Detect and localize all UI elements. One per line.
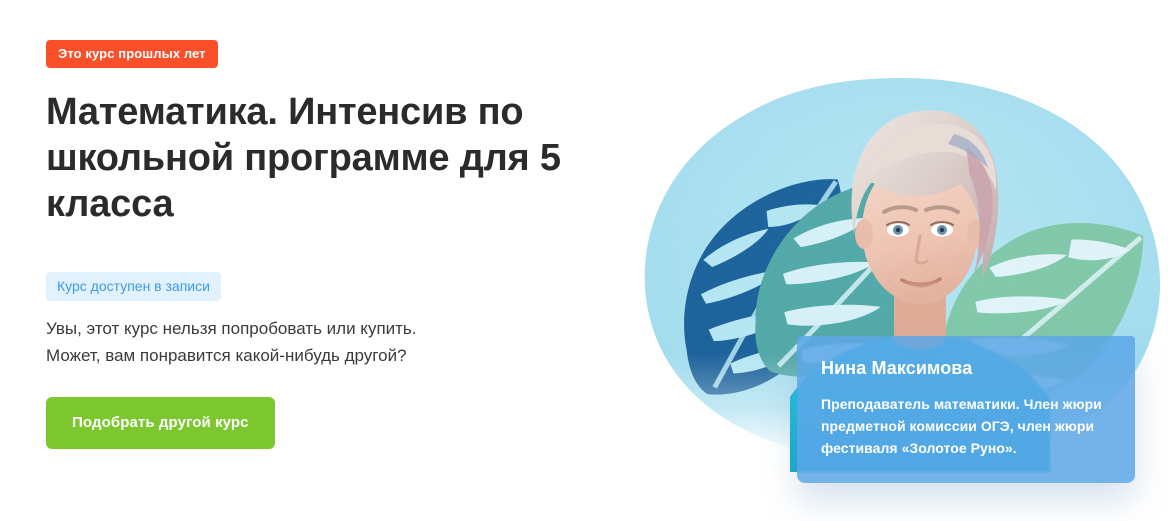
archive-course-badge: Это курс прошлых лет (46, 40, 218, 68)
teacher-info-card: Нина Максимова Преподаватель математики.… (797, 336, 1135, 483)
course-unavailable-line-2: Может, вам понравится какой-нибудь друго… (46, 342, 606, 369)
choose-another-course-button[interactable]: Подобрать другой курс (46, 397, 275, 449)
teacher-hero-art: Нина Максимова Преподаватель математики.… (640, 72, 1172, 521)
teacher-name: Нина Максимова (821, 358, 1111, 380)
course-info-column: Это курс прошлых лет Математика. Интенси… (46, 40, 606, 449)
course-hero-page: Это курс прошлых лет Математика. Интенси… (0, 0, 1172, 521)
status-badge-available-in-recording: Курс доступен в записи (46, 272, 221, 301)
course-unavailable-text: Увы, этот курс нельзя попробовать или ку… (46, 315, 606, 369)
course-unavailable-line-1: Увы, этот курс нельзя попробовать или ку… (46, 315, 606, 342)
teacher-bio: Преподаватель математики. Член жюри пред… (821, 393, 1111, 459)
page-title: Математика. Интенсив по школьной програм… (46, 89, 566, 227)
